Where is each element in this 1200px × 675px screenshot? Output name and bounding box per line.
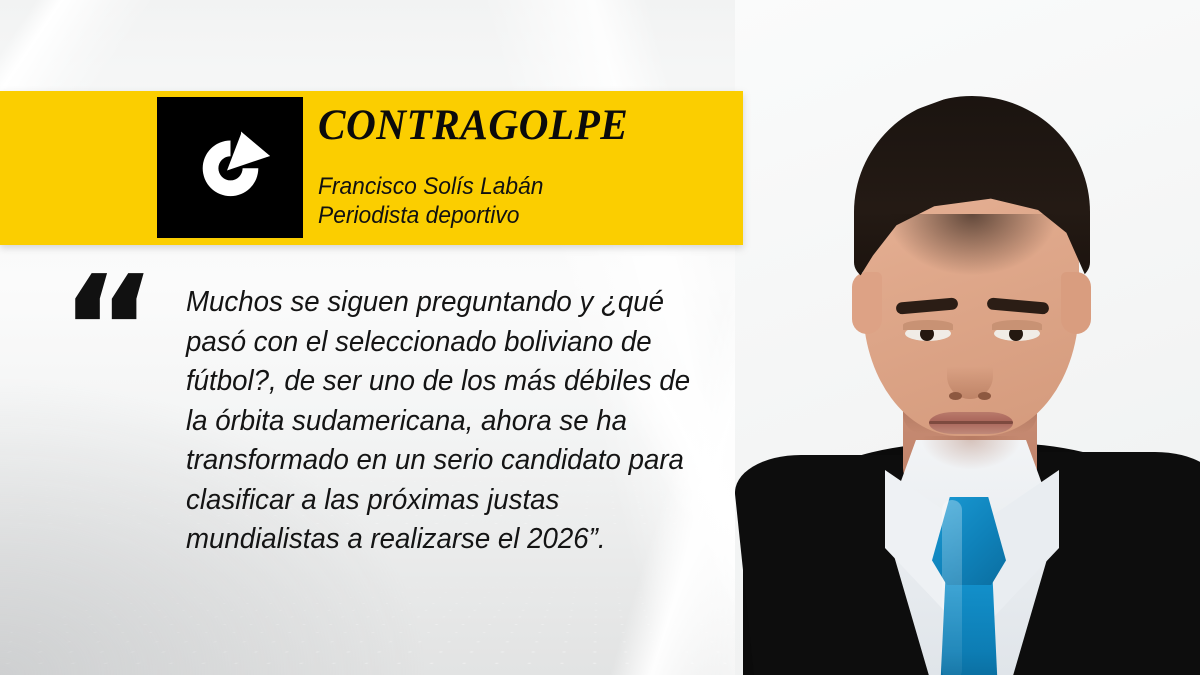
lip-line (929, 421, 1013, 424)
quote-line: la órbita sudamericana, ahora se ha (186, 402, 710, 442)
eyelid-left (903, 320, 953, 330)
graphic-canvas: CONTRAGOLPE Francisco Solís Labán Period… (0, 0, 1200, 675)
quote-line: mundialistas a realizarse el 2026”. (186, 520, 710, 560)
quote-line: fútbol?, de ser uno de los más débiles d… (186, 362, 710, 402)
quote-line: transformado en un serio candidato para (186, 441, 710, 481)
hairline-shadow (875, 214, 1069, 284)
logo-box (157, 97, 303, 238)
contragolpe-arrow-logo-icon (178, 116, 282, 220)
quote-line: pasó con el seleccionado boliviano de (186, 323, 710, 363)
quote-line: Muchos se siguen preguntando y ¿qué (186, 283, 710, 323)
eyelid-right (992, 320, 1042, 330)
nostril-right (978, 392, 991, 400)
program-title: CONTRAGOLPE (318, 104, 628, 147)
portrait-photo (735, 0, 1200, 675)
quote-line: clasificar a las próximas justas (186, 481, 710, 521)
author-block: Francisco Solís Labán Periodista deporti… (318, 172, 543, 230)
nostril-left (949, 392, 962, 400)
quote-text: Muchos se siguen preguntando y ¿qué pasó… (186, 283, 710, 560)
quote-open-mark: “ (60, 256, 151, 404)
author-role: Periodista deportivo (318, 201, 543, 230)
author-name: Francisco Solís Labán (318, 172, 543, 201)
necktie-highlight (942, 500, 962, 675)
nose (947, 345, 993, 399)
chin-shadow (921, 436, 1021, 470)
